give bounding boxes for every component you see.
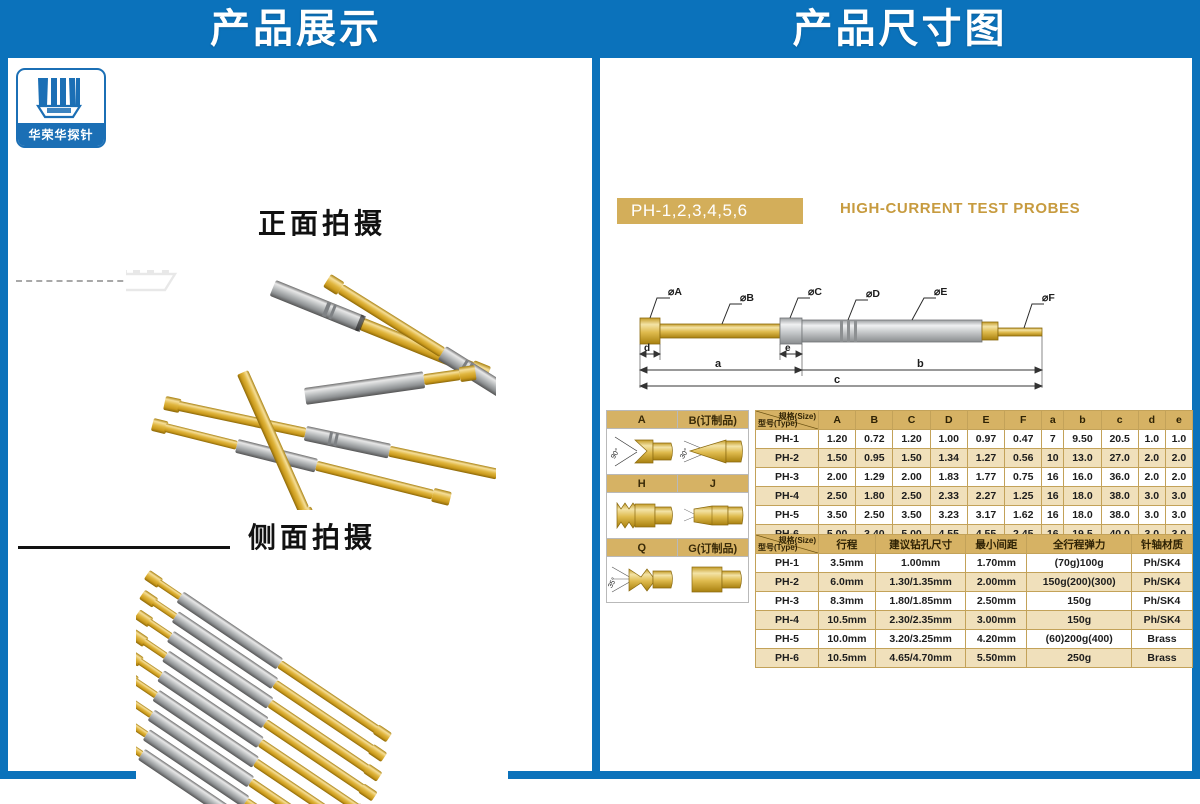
prop-cell: 10.5mm: [819, 649, 876, 668]
prop-cell: 3.20/3.25mm: [875, 630, 966, 649]
prop-cell: 2.30/2.35mm: [875, 611, 966, 630]
divider-solid: [18, 546, 230, 549]
spec-cell: 10: [1042, 449, 1064, 468]
prop-row-model: PH-3: [756, 592, 819, 611]
prop-cell: 3.5mm: [819, 554, 876, 573]
spec-cell: 27.0: [1101, 449, 1138, 468]
product-dimension-panel: 产品尺寸图 PH-1,2,3,4,5,6 HIGH-CURRENT TEST P…: [600, 0, 1200, 779]
prop-cell: 10.5mm: [819, 611, 876, 630]
spec-cell: 1.00: [930, 430, 967, 449]
tip-shape-icon-B: 30°: [678, 429, 749, 475]
prop-cell: Ph/SK4: [1132, 573, 1193, 592]
spec-cell: 2.0: [1165, 468, 1192, 487]
tip-shape-icon-A: 90°: [607, 429, 677, 475]
spec-cell: 2.50: [819, 487, 856, 506]
spec-cell: 3.50: [819, 506, 856, 525]
spec-cell: 1.83: [930, 468, 967, 487]
spec-cell: 16: [1042, 506, 1064, 525]
spec-table-corner-cell: 规格(Size) 型号(Type): [756, 411, 819, 430]
label-diameter-F: ⌀F: [1042, 292, 1055, 304]
spec-cell: 1.27: [967, 449, 1004, 468]
probe-dimension-drawing: ⌀A ⌀B ⌀C ⌀D ⌀E ⌀F: [612, 236, 1172, 398]
tip-shape-cell-A: A 90°: [607, 411, 678, 475]
spec-cell: 2.0: [1138, 468, 1165, 487]
tip-shape-icon-G: [678, 557, 749, 602]
prop-table-header-row: 规格(Size) 型号(Type) 行程 建议钻孔尺寸 最小间距 全行程弹力 针…: [756, 535, 1193, 554]
label-diameter-C: ⌀C: [808, 286, 822, 298]
spec-cell: 2.33: [930, 487, 967, 506]
prop-cell: 5.50mm: [966, 649, 1027, 668]
spec-cell: 3.17: [967, 506, 1004, 525]
spec-cell: 20.5: [1101, 430, 1138, 449]
left-panel-body: 华荣华探针 正面拍摄: [8, 58, 592, 771]
spec-col-d: d: [1138, 411, 1165, 430]
table-row: PH-510.0mm3.20/3.25mm4.20mm(60)200g(400)…: [756, 630, 1193, 649]
prop-col-drill-size: 建议钻孔尺寸: [875, 535, 966, 554]
prop-cell: Ph/SK4: [1132, 592, 1193, 611]
spec-col-b: b: [1064, 411, 1101, 430]
spec-cell: 3.0: [1138, 487, 1165, 506]
tip-shape-label-H: H: [607, 475, 677, 493]
model-chip-subtitle: HIGH-CURRENT TEST PROBES: [840, 200, 1080, 217]
prop-row-model: PH-1: [756, 554, 819, 573]
spec-cell: 9.50: [1064, 430, 1101, 449]
prop-cell: Brass: [1132, 630, 1193, 649]
prop-cell: 6.0mm: [819, 573, 876, 592]
spec-col-a: a: [1042, 411, 1064, 430]
tip-shape-label-A: A: [607, 411, 677, 429]
spec-col-D: D: [930, 411, 967, 430]
table-row: PH-13.5mm1.00mm1.70mm(70g)100gPh/SK4: [756, 554, 1193, 573]
left-banner-title: 产品展示: [210, 9, 382, 49]
tip-shape-cell-Q: Q 35°: [607, 539, 678, 602]
label-length-b: b: [917, 358, 924, 370]
spec-cell: 18.0: [1064, 487, 1101, 506]
label-diameter-D: ⌀D: [866, 288, 880, 300]
prop-cell: Ph/SK4: [1132, 554, 1193, 573]
table-row: PH-610.5mm4.65/4.70mm5.50mm250gBrass: [756, 649, 1193, 668]
table-row: PH-11.200.721.201.000.970.4779.5020.51.0…: [756, 430, 1193, 449]
prop-row-model: PH-6: [756, 649, 819, 668]
caption-side-view: 侧面拍摄: [248, 524, 376, 552]
spec-cell: 16.0: [1064, 468, 1101, 487]
spec-cell: 2.27: [967, 487, 1004, 506]
spec-cell: 3.23: [930, 506, 967, 525]
product-showcase-panel: 产品展示: [0, 0, 592, 779]
spec-cell: 13.0: [1064, 449, 1101, 468]
prop-row-model: PH-5: [756, 630, 819, 649]
spec-cell: 3.0: [1165, 487, 1192, 506]
spec-cell: 1.62: [1005, 506, 1042, 525]
table-row: PH-38.3mm1.80/1.85mm2.50mm150gPh/SK4: [756, 592, 1193, 611]
prop-cell: (60)200g(400): [1027, 630, 1132, 649]
spec-cell: 36.0: [1101, 468, 1138, 487]
spec-row-model: PH-2: [756, 449, 819, 468]
prop-col-stroke: 行程: [819, 535, 876, 554]
label-length-c: c: [834, 374, 840, 386]
label-diameter-E: ⌀E: [934, 286, 947, 298]
spec-cell: 16: [1042, 468, 1064, 487]
table-row: PH-32.001.292.001.831.770.751616.036.02.…: [756, 468, 1193, 487]
spec-cell: 18.0: [1064, 506, 1101, 525]
spec-cell: 2.50: [893, 487, 930, 506]
spec-col-F: F: [1005, 411, 1042, 430]
photo-side-view: [136, 556, 508, 804]
tip-shape-cell-J: J: [678, 475, 749, 539]
spec-cell: 1.34: [930, 449, 967, 468]
logo-company-name: 华荣华探针: [18, 123, 104, 146]
prop-cell: 1.70mm: [966, 554, 1027, 573]
tip-shape-label-J: J: [678, 475, 749, 493]
prop-col-shaft-material: 针轴材质: [1132, 535, 1193, 554]
spec-cell: 0.95: [856, 449, 893, 468]
spec-cell: 0.56: [1005, 449, 1042, 468]
prop-cell: 1.00mm: [875, 554, 966, 573]
prop-corner-type-label: 型号(Type): [758, 542, 797, 553]
probe-property-table: 规格(Size) 型号(Type) 行程 建议钻孔尺寸 最小间距 全行程弹力 针…: [755, 534, 1193, 668]
prop-cell: 2.50mm: [966, 592, 1027, 611]
spec-col-C: C: [893, 411, 930, 430]
prop-cell: 1.30/1.35mm: [875, 573, 966, 592]
spec-cell: 1.50: [893, 449, 930, 468]
photo-front-view: [126, 270, 496, 510]
tip-shape-icon-Q: 35°: [607, 557, 677, 602]
crown-emblem-icon: [18, 72, 104, 122]
prop-cell: Ph/SK4: [1132, 611, 1193, 630]
spec-cell: 3.0: [1138, 506, 1165, 525]
prop-cell: 150g(200)(300): [1027, 573, 1132, 592]
prop-table-corner-cell: 规格(Size) 型号(Type): [756, 535, 819, 554]
prop-cell: 150g: [1027, 592, 1132, 611]
prop-cell: 2.00mm: [966, 573, 1027, 592]
spec-cell: 1.0: [1138, 430, 1165, 449]
prop-row-model: PH-2: [756, 573, 819, 592]
prop-cell: 3.00mm: [966, 611, 1027, 630]
tip-shape-cell-B: B(订制品) 30°: [678, 411, 749, 475]
spec-cell: 0.75: [1005, 468, 1042, 487]
prop-cell: 10.0mm: [819, 630, 876, 649]
spec-cell: 1.20: [893, 430, 930, 449]
tip-shape-grid: A 90°: [606, 410, 749, 603]
table-row: PH-21.500.951.501.341.270.561013.027.02.…: [756, 449, 1193, 468]
prop-row-model: PH-4: [756, 611, 819, 630]
prop-col-min-pitch: 最小间距: [966, 535, 1027, 554]
table-row: PH-410.5mm2.30/2.35mm3.00mm150gPh/SK4: [756, 611, 1193, 630]
tip-shape-label-G: G(订制品): [678, 539, 749, 557]
spec-cell: 1.80: [856, 487, 893, 506]
product-detail-page: 产品展示: [0, 0, 1200, 779]
tip-shape-row: Q 35°: [607, 539, 748, 602]
prop-cell: 4.20mm: [966, 630, 1027, 649]
label-length-a: a: [715, 358, 722, 370]
tip-shape-row: A 90°: [607, 411, 748, 475]
label-diameter-B: ⌀B: [740, 292, 754, 304]
prop-cell: 1.80/1.85mm: [875, 592, 966, 611]
spec-cell: 2.0: [1138, 449, 1165, 468]
tip-shape-icon-J: [678, 493, 749, 539]
caption-front-view: 正面拍摄: [258, 210, 386, 238]
right-panel-body: PH-1,2,3,4,5,6 HIGH-CURRENT TEST PROBES: [600, 58, 1192, 771]
spec-col-A: A: [819, 411, 856, 430]
prop-cell: 150g: [1027, 611, 1132, 630]
table-row: PH-26.0mm1.30/1.35mm2.00mm150g(200)(300)…: [756, 573, 1193, 592]
table-row: PH-42.501.802.502.332.271.251618.038.03.…: [756, 487, 1193, 506]
prop-cell: 8.3mm: [819, 592, 876, 611]
prop-cell: Brass: [1132, 649, 1193, 668]
label-length-e: e: [785, 343, 791, 354]
spec-cell: 1.0: [1165, 430, 1192, 449]
spec-col-e: e: [1165, 411, 1192, 430]
right-banner: 产品尺寸图: [600, 0, 1200, 58]
spec-cell: 1.20: [819, 430, 856, 449]
spec-table-header-row: 规格(Size) 型号(Type) A B C D E F a b c d e: [756, 411, 1193, 430]
spec-cell: 1.77: [967, 468, 1004, 487]
label-diameter-A: ⌀A: [668, 286, 682, 298]
spec-cell: 1.25: [1005, 487, 1042, 506]
spec-cell: 2.50: [856, 506, 893, 525]
prop-table-body: PH-13.5mm1.00mm1.70mm(70g)100gPh/SK4 PH-…: [756, 554, 1193, 668]
spec-cell: 1.50: [819, 449, 856, 468]
spec-row-model: PH-5: [756, 506, 819, 525]
right-banner-title: 产品尺寸图: [793, 9, 1008, 49]
spec-cell: 2.00: [893, 468, 930, 487]
spec-cell: 16: [1042, 487, 1064, 506]
tip-shape-label-B: B(订制品): [678, 411, 749, 429]
spec-col-B: B: [856, 411, 893, 430]
spec-row-model: PH-1: [756, 430, 819, 449]
model-chip: PH-1,2,3,4,5,6: [617, 198, 803, 224]
spec-cell: 3.0: [1165, 506, 1192, 525]
spec-cell: 38.0: [1101, 506, 1138, 525]
prop-cell: 250g: [1027, 649, 1132, 668]
spec-cell: 2.00: [819, 468, 856, 487]
spec-table-body: PH-11.200.721.201.000.970.4779.5020.51.0…: [756, 430, 1193, 544]
spec-corner-type-label: 型号(Type): [758, 418, 797, 429]
tip-shape-cell-G: G(订制品): [678, 539, 749, 602]
table-row: PH-53.502.503.503.233.171.621618.038.03.…: [756, 506, 1193, 525]
prop-cell: (70g)100g: [1027, 554, 1132, 573]
spec-cell: 38.0: [1101, 487, 1138, 506]
company-logo: 华荣华探针: [16, 68, 106, 148]
tip-shape-label-Q: Q: [607, 539, 677, 557]
spec-cell: 0.47: [1005, 430, 1042, 449]
spec-cell: 0.97: [967, 430, 1004, 449]
left-banner: 产品展示: [0, 0, 592, 58]
prop-cell: 4.65/4.70mm: [875, 649, 966, 668]
spec-cell: 0.72: [856, 430, 893, 449]
dimension-spec-table: 规格(Size) 型号(Type) A B C D E F a b c d e: [755, 410, 1193, 544]
tip-shape-icon-H: [607, 493, 677, 539]
spec-cell: 7: [1042, 430, 1064, 449]
spec-cell: 1.29: [856, 468, 893, 487]
tip-shape-cell-H: H: [607, 475, 678, 539]
label-length-d: d: [644, 343, 650, 354]
spec-row-model: PH-4: [756, 487, 819, 506]
spec-cell: 3.50: [893, 506, 930, 525]
prop-col-spring-force: 全行程弹力: [1027, 535, 1132, 554]
spec-col-E: E: [967, 411, 1004, 430]
spec-col-c: c: [1101, 411, 1138, 430]
spec-row-model: PH-3: [756, 468, 819, 487]
tip-shape-row: H J: [607, 475, 748, 539]
spec-cell: 2.0: [1165, 449, 1192, 468]
